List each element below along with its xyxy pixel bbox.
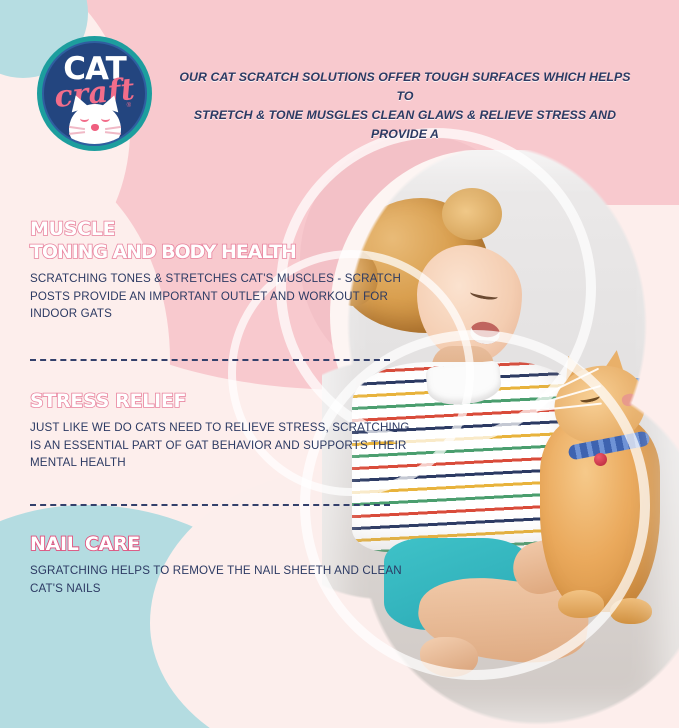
logo-cat-eye-left xyxy=(80,115,89,122)
feature-title-line-1: MUSCLE xyxy=(30,218,410,241)
logo-registered-mark: ® xyxy=(127,103,131,109)
divider-2 xyxy=(30,504,390,506)
divider-1 xyxy=(30,359,390,361)
feature-block-muscle-toning: MUSCLE TONING AND BODY HEALTH SCRATCHING… xyxy=(30,218,410,323)
logo-cat-eye-right xyxy=(101,115,110,122)
feature-block-nail-care: NAIL CARE SGRATCHING HELPS TO REMOVE THE… xyxy=(30,533,410,597)
feature-title-line-1: NAIL CARE xyxy=(30,533,410,556)
headline-line-1: OUR CAT SCRATCH SOLUTIONS OFFER TOUGH SU… xyxy=(172,68,638,106)
feature-body-text: JUST LIKE WE DO CATS NEED TO RELIEVE STR… xyxy=(30,419,410,472)
feature-body-text: SGRATCHING HELPS TO REMOVE THE NAIL SHEE… xyxy=(30,562,410,597)
banner-headline: OUR CAT SCRATCH SOLUTIONS OFFER TOUGH SU… xyxy=(172,68,638,144)
headline-line-2: STRETCH & TONE MUSGLES CLEAN GLAWS & REL… xyxy=(172,106,638,144)
logo-cat-nose xyxy=(91,124,99,131)
cat-craft-promo-banner: CAT craft ® OUR CAT SCRATCH SOLUTIONS OF… xyxy=(0,0,679,728)
cat-craft-logo: CAT craft ® xyxy=(37,36,152,151)
logo-inner-disc: CAT craft ® xyxy=(42,41,147,146)
feature-title-line-1: STRESS RELIEF xyxy=(30,390,410,413)
feature-body-text: SCRATCHING TONES & STRETCHES CAT'S MUSCL… xyxy=(30,270,410,323)
feature-block-stress-relief: STRESS RELIEF JUST LIKE WE DO CATS NEED … xyxy=(30,390,410,472)
feature-title-line-2: TONING AND BODY HEALTH xyxy=(30,241,410,264)
